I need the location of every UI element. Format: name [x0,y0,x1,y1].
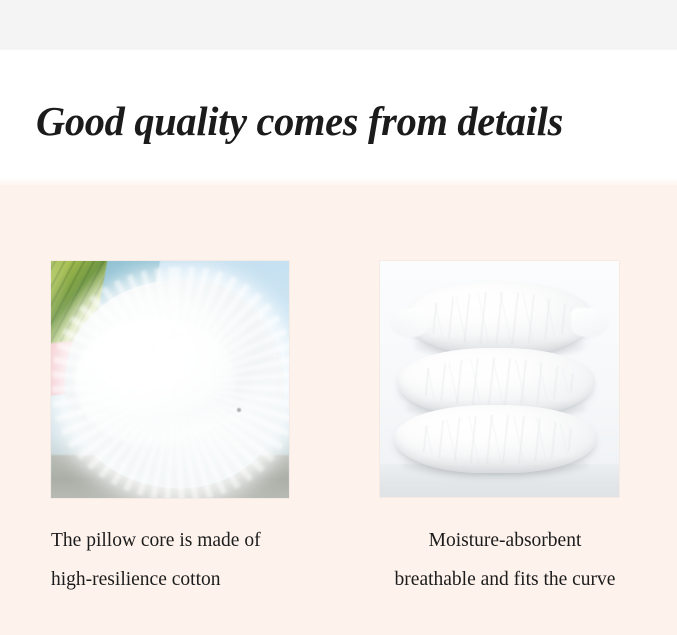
caption-line-1: Moisture-absorbent [369,521,641,560]
fiber-dark-fleck [237,408,241,412]
top-gray-strip [0,0,677,50]
feature-caption-breathable: Moisture-absorbent breathable and fits t… [369,521,641,599]
pillow-corner-left [390,308,428,336]
feature-photo-frame [380,261,619,497]
pillow-stack-photo [380,261,619,497]
pillow-corner-right [571,308,609,336]
caption-line-1: The pillow core is made of [51,521,341,560]
product-detail-page: Good quality comes from details The pill… [0,0,677,635]
pillow-insert-top [406,282,592,355]
feature-section: The pillow core is made of high-resilien… [0,185,677,635]
fiberfill-cotton-photo [51,261,289,498]
pillow-insert-bottom [394,405,597,473]
caption-line-2: breathable and fits the curve [369,560,641,599]
feature-photo-frame [51,261,289,498]
feature-card-pillow-core: The pillow core is made of high-resilien… [40,185,330,635]
feature-caption-pillow-core: The pillow core is made of high-resilien… [51,521,341,599]
cotton-fiber-wisps [51,261,289,498]
feature-card-breathable: Moisture-absorbent breathable and fits t… [369,185,659,635]
caption-line-2: high-resilience cotton [51,560,341,599]
page-title: Good quality comes from details [36,96,563,146]
